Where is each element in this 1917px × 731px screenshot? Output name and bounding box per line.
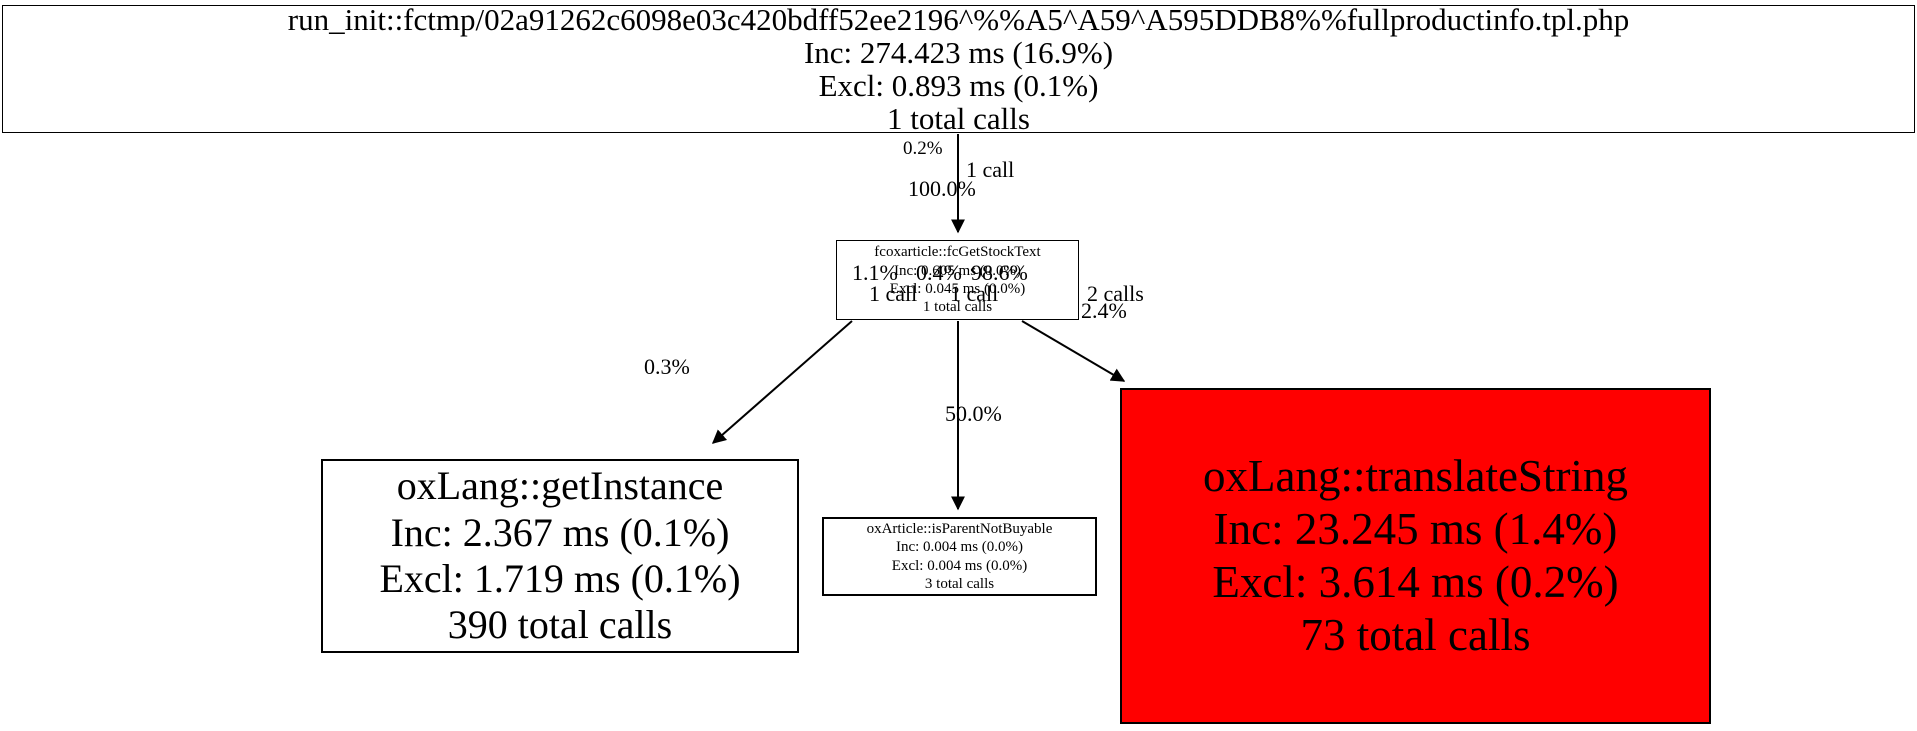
- node-root[interactable]: run_init::fctmp/02a91262c6098e03c420bdff…: [2, 5, 1915, 133]
- node-root-calls: 1 total calls: [887, 102, 1030, 135]
- edge-label-translatestring-inbound-percent: 2.4%: [1081, 300, 1127, 322]
- node-isparentnotbuyable[interactable]: oxArticle::isParentNotBuyable Inc: 0.004…: [822, 517, 1097, 596]
- edge-label-root-to-fcgetstocktext-percent: 0.2%: [903, 139, 943, 158]
- node-isparentnotbuyable-inclusive: Inc: 0.004 ms (0.0%): [896, 538, 1023, 556]
- node-getinstance-exclusive: Excl: 1.719 ms (0.1%): [379, 556, 740, 602]
- node-fcgetstocktext-label: fcoxarticle::fcGetStockText: [874, 243, 1040, 261]
- node-root-inclusive: Inc: 274.423 ms (16.9%): [804, 36, 1113, 69]
- node-root-label: run_init::fctmp/02a91262c6098e03c420bdff…: [288, 3, 1629, 36]
- node-translatestring-exclusive: Excl: 3.614 ms (0.2%): [1212, 556, 1618, 609]
- edge-label-fcgetstocktext-to-translatestring-percent: 98.6%: [971, 262, 1028, 284]
- node-translatestring-inclusive: Inc: 23.245 ms (1.4%): [1214, 503, 1618, 556]
- node-translatestring[interactable]: oxLang::translateString Inc: 23.245 ms (…: [1120, 388, 1711, 724]
- node-root-exclusive: Excl: 0.893 ms (0.1%): [819, 69, 1099, 102]
- node-isparentnotbuyable-calls: 3 total calls: [925, 575, 994, 593]
- edge-fcgetstocktext-to-translatestring: [1022, 321, 1124, 381]
- node-translatestring-calls: 73 total calls: [1301, 609, 1531, 662]
- node-getinstance-inclusive: Inc: 2.367 ms (0.1%): [391, 510, 730, 556]
- edge-label-fcgetstocktext-to-isparentnotbuyable-calls: 1 call: [950, 283, 998, 305]
- edge-fcgetstocktext-to-getinstance: [713, 321, 852, 443]
- node-getinstance[interactable]: oxLang::getInstance Inc: 2.367 ms (0.1%)…: [321, 459, 799, 653]
- edge-label-fcgetstocktext-inbound-percent: 100.0%: [908, 178, 976, 200]
- node-getinstance-label: oxLang::getInstance: [397, 463, 724, 509]
- node-translatestring-label: oxLang::translateString: [1203, 450, 1628, 503]
- edge-label-getinstance-inbound-percent: 0.3%: [644, 356, 690, 378]
- call-graph-canvas: run_init::fctmp/02a91262c6098e03c420bdff…: [0, 0, 1917, 731]
- edge-label-isparentnotbuyable-inbound-percent: 50.0%: [945, 403, 1002, 425]
- node-getinstance-calls: 390 total calls: [448, 602, 672, 648]
- node-isparentnotbuyable-label: oxArticle::isParentNotBuyable: [867, 520, 1053, 538]
- node-isparentnotbuyable-exclusive: Excl: 0.004 ms (0.0%): [892, 557, 1027, 575]
- edge-label-fcgetstocktext-to-getinstance-calls: 1 call: [869, 283, 917, 305]
